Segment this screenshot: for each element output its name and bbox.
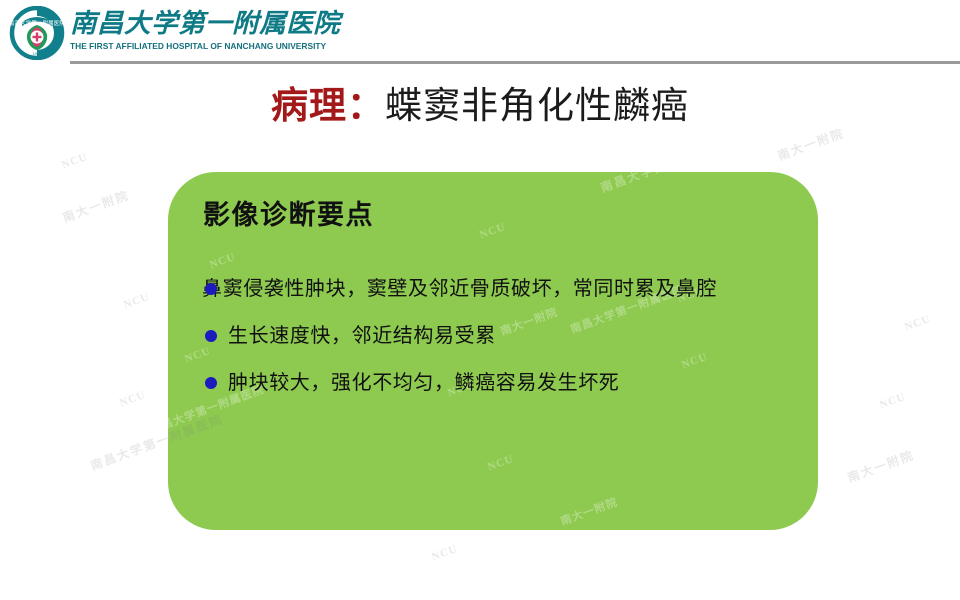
bullet-dot-icon	[205, 330, 217, 342]
watermark-white-1: 南大一附院	[775, 124, 847, 164]
list-item-text: 生长速度快，邻近结构易受累	[228, 321, 794, 351]
watermark-white-8: NCU	[118, 389, 147, 409]
slide-header: 南昌大学第一附属医院 1939 南昌大学第一附属医院 THE FIRST AFF…	[0, 0, 960, 66]
watermark-white-9: NCU	[430, 543, 459, 563]
header-divider	[70, 61, 960, 64]
watermark-green-4: NCU	[478, 221, 507, 241]
list-item: 生长速度快，邻近结构易受累	[202, 321, 794, 351]
watermark-green-1: 南昌大学第一附属医院	[598, 172, 735, 196]
title-label: 病理：	[271, 86, 385, 127]
svg-text:1939: 1939	[33, 51, 43, 56]
bullet-dot-icon	[205, 283, 217, 295]
list-item-text: 肿块较大，强化不均匀，鳞癌容易发生坏死	[228, 368, 794, 398]
watermark-green-5: NCU	[208, 251, 237, 271]
title-main: 蝶窦非角化性麟癌	[385, 86, 689, 127]
watermark-white-7: NCU	[878, 391, 907, 411]
hospital-name-cn: 南昌大学第一附属医院	[70, 9, 305, 39]
bullet-dot-icon	[205, 377, 217, 389]
watermark-white-10: NCU	[122, 291, 151, 311]
hospital-emblem-icon: 南昌大学第一附属医院 1939	[8, 6, 66, 60]
watermark-green-11: 南大一附院	[558, 493, 620, 529]
slide: 南昌大学第一附属医院 1939 南昌大学第一附属医院 THE FIRST AFF…	[0, 0, 960, 600]
list-item: 鼻窦侵袭性肿块，窦壁及邻近骨质破坏，常同时累及鼻腔	[202, 274, 794, 304]
watermark-white-2: 南大一附院	[60, 186, 132, 226]
panel-heading: 影像诊断要点	[203, 199, 374, 231]
list-item: 肿块较大，强化不均匀，鳞癌容易发生坏死	[202, 368, 794, 398]
hospital-name-block: 南昌大学第一附属医院 THE FIRST AFFILIATED HOSPITAL…	[70, 9, 300, 52]
watermark-green-10: NCU	[486, 453, 515, 473]
watermark-white-5: NCU	[60, 151, 89, 171]
diagnosis-panel: 南昌大学第一附属医院 南昌大学第一附属医院 南昌大学第一附属医院 NCU NCU…	[168, 172, 818, 530]
bullet-list: 鼻窦侵袭性肿块，窦壁及邻近骨质破坏，常同时累及鼻腔 生长速度快，邻近结构易受累 …	[202, 274, 794, 398]
hospital-name-en: THE FIRST AFFILIATED HOSPITAL OF NANCHAN…	[70, 41, 300, 52]
watermark-white-4: 南大一附院	[845, 446, 917, 486]
page-title: 病理：蝶窦非角化性麟癌	[0, 84, 960, 130]
watermark-white-6: NCU	[903, 313, 932, 333]
list-item-text: 鼻窦侵袭性肿块，窦壁及邻近骨质破坏，常同时累及鼻腔	[228, 274, 794, 304]
